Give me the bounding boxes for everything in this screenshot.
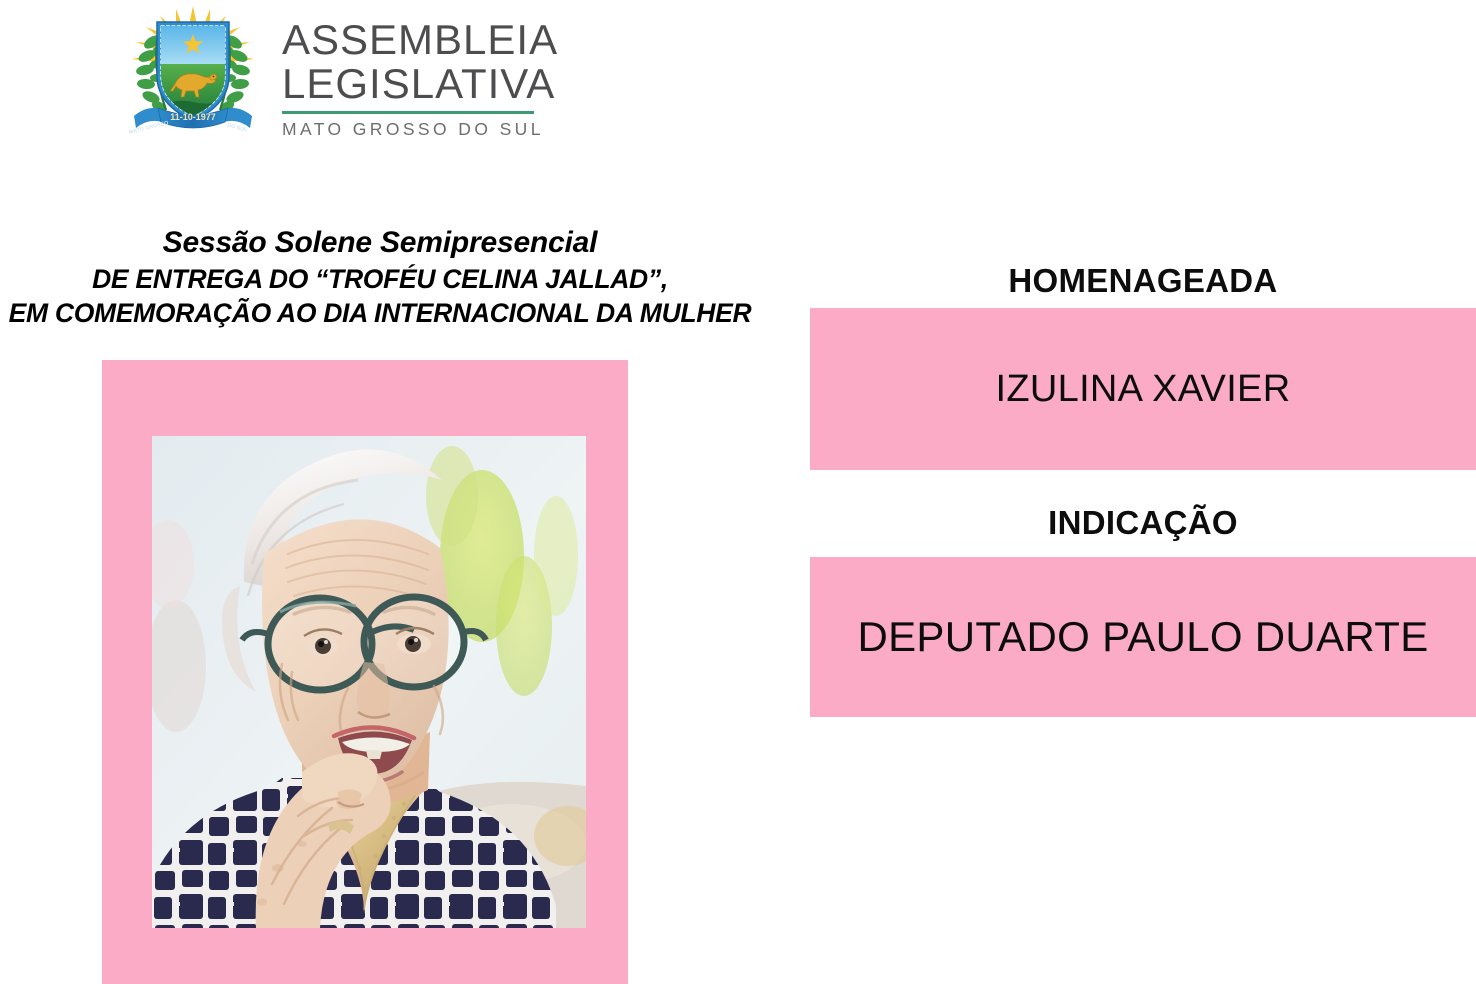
panel-value-indicacao: DEPUTADO PAULO DUARTE: [857, 613, 1428, 661]
panel-value-homenageada: IZULINA XAVIER: [996, 368, 1291, 411]
portrait-photo: [152, 436, 586, 928]
svg-text:MATO GROSSO: MATO GROSSO: [128, 120, 169, 136]
panel-box-homenageada: IZULINA XAVIER: [810, 308, 1476, 470]
session-title-line-3: EM COMEMORAÇÃO AO DIA INTERNACIONAL DA M…: [0, 296, 760, 330]
wordmark-state-label: MATO GROSSO DO SUL: [282, 119, 558, 140]
panel-heading-indicacao: INDICAÇÃO: [810, 504, 1476, 542]
svg-text:11-10-1977: 11-10-1977: [170, 112, 216, 122]
wordmark-line-assembleia: ASSEMBLEIA: [282, 18, 558, 62]
wordmark-line-legislativa: LEGISLATIVA: [282, 62, 558, 106]
institution-wordmark: ASSEMBLEIA LEGISLATIVA MATO GROSSO DO SU…: [282, 4, 558, 140]
session-title-line-1: Sessão Solene Semipresencial: [0, 224, 760, 262]
session-title-line-2: DE ENTREGA DO “TROFÉU CELINA JALLAD”,: [0, 262, 760, 296]
portrait-photo-frame: [102, 360, 628, 984]
institution-logo-block: 11-10-1977 MATO GROSSO DO SUL ASSEMBLEIA…: [128, 4, 558, 140]
session-title: Sessão Solene Semipresencial DE ENTREGA …: [0, 224, 760, 330]
shield-ribbon: 11-10-1977 MATO GROSSO DO SUL: [128, 108, 252, 136]
wordmark-divider: [282, 111, 534, 114]
panel-box-indicacao: DEPUTADO PAULO DUARTE: [810, 557, 1476, 717]
panel-heading-homenageada: HOMENAGEADA: [810, 262, 1476, 300]
mato-grosso-do-sul-coat-of-arms-icon: 11-10-1977 MATO GROSSO DO SUL: [128, 4, 258, 138]
